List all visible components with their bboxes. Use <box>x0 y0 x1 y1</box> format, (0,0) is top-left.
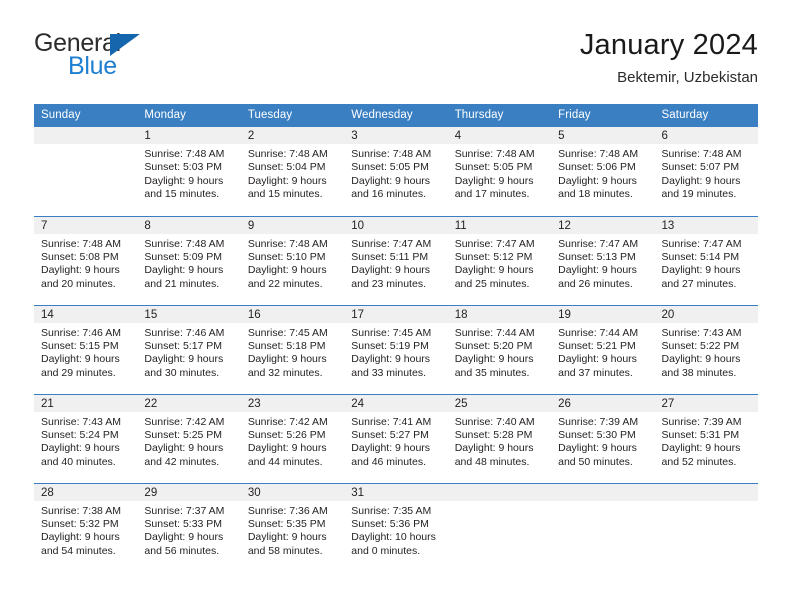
day-details: Sunrise: 7:37 AMSunset: 5:33 PMDaylight:… <box>137 501 240 559</box>
sunrise-text: Sunrise: 7:45 AM <box>351 327 441 340</box>
daylight-text-line1: Daylight: 9 hours <box>455 442 545 455</box>
sunset-text: Sunset: 5:35 PM <box>248 518 338 531</box>
day-number: 14 <box>34 306 137 323</box>
daylight-text-line2: and 18 minutes. <box>558 188 648 201</box>
daylight-text-line2: and 15 minutes. <box>144 188 234 201</box>
daylight-text-line2: and 15 minutes. <box>248 188 338 201</box>
day-details: Sunrise: 7:43 AMSunset: 5:22 PMDaylight:… <box>655 323 758 381</box>
day-details: Sunrise: 7:42 AMSunset: 5:26 PMDaylight:… <box>241 412 344 470</box>
sunrise-text: Sunrise: 7:48 AM <box>41 238 131 251</box>
daylight-text-line1: Daylight: 10 hours <box>351 531 441 544</box>
daylight-text-line1: Daylight: 9 hours <box>248 175 338 188</box>
sunrise-text: Sunrise: 7:46 AM <box>144 327 234 340</box>
daylight-text-line1: Daylight: 9 hours <box>558 353 648 366</box>
calendar-cell-day-18[interactable]: 18Sunrise: 7:44 AMSunset: 5:20 PMDayligh… <box>448 305 551 394</box>
daylight-text-line2: and 23 minutes. <box>351 278 441 291</box>
daylight-text-line2: and 52 minutes. <box>662 456 752 469</box>
sunrise-text: Sunrise: 7:44 AM <box>455 327 545 340</box>
daylight-text-line1: Daylight: 9 hours <box>662 442 752 455</box>
sunset-text: Sunset: 5:07 PM <box>662 161 752 174</box>
page-header: General Blue January 2024 Bektemir, Uzbe… <box>0 0 792 104</box>
calendar-cell-day-28[interactable]: 28Sunrise: 7:38 AMSunset: 5:32 PMDayligh… <box>34 483 137 572</box>
sunset-text: Sunset: 5:21 PM <box>558 340 648 353</box>
sunrise-text: Sunrise: 7:35 AM <box>351 505 441 518</box>
calendar-cell-day-13[interactable]: 13Sunrise: 7:47 AMSunset: 5:14 PMDayligh… <box>655 216 758 305</box>
sunset-text: Sunset: 5:22 PM <box>662 340 752 353</box>
day-number: 6 <box>655 127 758 144</box>
calendar-cell-day-6[interactable]: 6Sunrise: 7:48 AMSunset: 5:07 PMDaylight… <box>655 127 758 216</box>
calendar-cell-day-29[interactable]: 29Sunrise: 7:37 AMSunset: 5:33 PMDayligh… <box>137 483 240 572</box>
daylight-text-line1: Daylight: 9 hours <box>558 264 648 277</box>
daylight-text-line2: and 32 minutes. <box>248 367 338 380</box>
page-subtitle: Bektemir, Uzbekistan <box>580 68 758 88</box>
day-number: 10 <box>344 217 447 234</box>
sunset-text: Sunset: 5:05 PM <box>351 161 441 174</box>
day-details: Sunrise: 7:44 AMSunset: 5:21 PMDaylight:… <box>551 323 654 381</box>
calendar-cell-day-15[interactable]: 15Sunrise: 7:46 AMSunset: 5:17 PMDayligh… <box>137 305 240 394</box>
day-details: Sunrise: 7:35 AMSunset: 5:36 PMDaylight:… <box>344 501 447 559</box>
daylight-text-line1: Daylight: 9 hours <box>662 175 752 188</box>
sunset-text: Sunset: 5:09 PM <box>144 251 234 264</box>
sunset-text: Sunset: 5:32 PM <box>41 518 131 531</box>
day-details: Sunrise: 7:46 AMSunset: 5:15 PMDaylight:… <box>34 323 137 381</box>
daylight-text-line2: and 58 minutes. <box>248 545 338 558</box>
daylight-text-line2: and 25 minutes. <box>455 278 545 291</box>
daylight-text-line1: Daylight: 9 hours <box>41 353 131 366</box>
calendar-cell-day-9[interactable]: 9Sunrise: 7:48 AMSunset: 5:10 PMDaylight… <box>241 216 344 305</box>
sunrise-text: Sunrise: 7:44 AM <box>558 327 648 340</box>
weekday-header-thursday: Thursday <box>448 104 551 127</box>
day-details: Sunrise: 7:48 AMSunset: 5:10 PMDaylight:… <box>241 234 344 292</box>
sunrise-text: Sunrise: 7:38 AM <box>41 505 131 518</box>
sunset-text: Sunset: 5:28 PM <box>455 429 545 442</box>
sunset-text: Sunset: 5:15 PM <box>41 340 131 353</box>
sunset-text: Sunset: 5:04 PM <box>248 161 338 174</box>
daylight-text-line1: Daylight: 9 hours <box>248 353 338 366</box>
day-number: 25 <box>448 395 551 412</box>
calendar-cell-day-7[interactable]: 7Sunrise: 7:48 AMSunset: 5:08 PMDaylight… <box>34 216 137 305</box>
daylight-text-line1: Daylight: 9 hours <box>455 353 545 366</box>
day-number: 8 <box>137 217 240 234</box>
calendar-cell-day-26[interactable]: 26Sunrise: 7:39 AMSunset: 5:30 PMDayligh… <box>551 394 654 483</box>
calendar-cell-empty <box>551 483 654 572</box>
sunset-text: Sunset: 5:12 PM <box>455 251 545 264</box>
daylight-text-line2: and 44 minutes. <box>248 456 338 469</box>
daylight-text-line2: and 50 minutes. <box>558 456 648 469</box>
day-number: 16 <box>241 306 344 323</box>
sunset-text: Sunset: 5:13 PM <box>558 251 648 264</box>
day-number: 28 <box>34 484 137 501</box>
day-details: Sunrise: 7:39 AMSunset: 5:31 PMDaylight:… <box>655 412 758 470</box>
daylight-text-line2: and 42 minutes. <box>144 456 234 469</box>
daylight-text-line1: Daylight: 9 hours <box>144 175 234 188</box>
daylight-text-line2: and 19 minutes. <box>662 188 752 201</box>
day-details: Sunrise: 7:45 AMSunset: 5:19 PMDaylight:… <box>344 323 447 381</box>
weekday-header-saturday: Saturday <box>655 104 758 127</box>
sunset-text: Sunset: 5:27 PM <box>351 429 441 442</box>
day-number <box>34 127 137 144</box>
daylight-text-line2: and 40 minutes. <box>41 456 131 469</box>
day-details: Sunrise: 7:48 AMSunset: 5:04 PMDaylight:… <box>241 144 344 202</box>
calendar-week-row: 1Sunrise: 7:48 AMSunset: 5:03 PMDaylight… <box>34 127 758 216</box>
calendar-cell-day-30[interactable]: 30Sunrise: 7:36 AMSunset: 5:35 PMDayligh… <box>241 483 344 572</box>
calendar-cell-day-23[interactable]: 23Sunrise: 7:42 AMSunset: 5:26 PMDayligh… <box>241 394 344 483</box>
day-number: 17 <box>344 306 447 323</box>
daylight-text-line1: Daylight: 9 hours <box>144 353 234 366</box>
daylight-text-line2: and 21 minutes. <box>144 278 234 291</box>
day-number: 1 <box>137 127 240 144</box>
title-block: January 2024 Bektemir, Uzbekistan <box>580 26 758 88</box>
calendar-week-row: 28Sunrise: 7:38 AMSunset: 5:32 PMDayligh… <box>34 483 758 572</box>
daylight-text-line1: Daylight: 9 hours <box>351 175 441 188</box>
day-details: Sunrise: 7:47 AMSunset: 5:14 PMDaylight:… <box>655 234 758 292</box>
sunset-text: Sunset: 5:10 PM <box>248 251 338 264</box>
day-number: 31 <box>344 484 447 501</box>
sunset-text: Sunset: 5:11 PM <box>351 251 441 264</box>
daylight-text-line2: and 27 minutes. <box>662 278 752 291</box>
sunset-text: Sunset: 5:25 PM <box>144 429 234 442</box>
daylight-text-line1: Daylight: 9 hours <box>351 353 441 366</box>
daylight-text-line2: and 20 minutes. <box>41 278 131 291</box>
day-details: Sunrise: 7:48 AMSunset: 5:07 PMDaylight:… <box>655 144 758 202</box>
calendar-cell-day-5[interactable]: 5Sunrise: 7:48 AMSunset: 5:06 PMDaylight… <box>551 127 654 216</box>
calendar-cell-empty <box>655 483 758 572</box>
daylight-text-line1: Daylight: 9 hours <box>558 175 648 188</box>
sunrise-text: Sunrise: 7:47 AM <box>455 238 545 251</box>
sunrise-text: Sunrise: 7:47 AM <box>662 238 752 251</box>
calendar-cell-day-27[interactable]: 27Sunrise: 7:39 AMSunset: 5:31 PMDayligh… <box>655 394 758 483</box>
day-details: Sunrise: 7:48 AMSunset: 5:03 PMDaylight:… <box>137 144 240 202</box>
day-number: 21 <box>34 395 137 412</box>
calendar-cell-day-11[interactable]: 11Sunrise: 7:47 AMSunset: 5:12 PMDayligh… <box>448 216 551 305</box>
day-details: Sunrise: 7:48 AMSunset: 5:05 PMDaylight:… <box>344 144 447 202</box>
daylight-text-line1: Daylight: 9 hours <box>248 531 338 544</box>
calendar-cell-day-10[interactable]: 10Sunrise: 7:47 AMSunset: 5:11 PMDayligh… <box>344 216 447 305</box>
calendar-cell-day-19[interactable]: 19Sunrise: 7:44 AMSunset: 5:21 PMDayligh… <box>551 305 654 394</box>
sunset-text: Sunset: 5:18 PM <box>248 340 338 353</box>
daylight-text-line1: Daylight: 9 hours <box>248 264 338 277</box>
calendar-cell-day-14[interactable]: 14Sunrise: 7:46 AMSunset: 5:15 PMDayligh… <box>34 305 137 394</box>
daylight-text-line2: and 33 minutes. <box>351 367 441 380</box>
day-number: 4 <box>448 127 551 144</box>
sunrise-text: Sunrise: 7:48 AM <box>662 148 752 161</box>
calendar-cell-day-21[interactable]: 21Sunrise: 7:43 AMSunset: 5:24 PMDayligh… <box>34 394 137 483</box>
day-details: Sunrise: 7:48 AMSunset: 5:09 PMDaylight:… <box>137 234 240 292</box>
day-number <box>448 484 551 501</box>
sunrise-text: Sunrise: 7:47 AM <box>558 238 648 251</box>
day-details: Sunrise: 7:47 AMSunset: 5:12 PMDaylight:… <box>448 234 551 292</box>
calendar-header-row: SundayMondayTuesdayWednesdayThursdayFrid… <box>34 104 758 127</box>
sunrise-text: Sunrise: 7:43 AM <box>662 327 752 340</box>
weekday-header-friday: Friday <box>551 104 654 127</box>
calendar-body: 1Sunrise: 7:48 AMSunset: 5:03 PMDaylight… <box>34 127 758 572</box>
sunrise-text: Sunrise: 7:37 AM <box>144 505 234 518</box>
day-number: 18 <box>448 306 551 323</box>
day-number: 9 <box>241 217 344 234</box>
sunset-text: Sunset: 5:03 PM <box>144 161 234 174</box>
calendar-cell-empty <box>34 127 137 216</box>
calendar-page: General Blue January 2024 Bektemir, Uzbe… <box>0 0 792 612</box>
day-details: Sunrise: 7:44 AMSunset: 5:20 PMDaylight:… <box>448 323 551 381</box>
day-number: 11 <box>448 217 551 234</box>
sunrise-text: Sunrise: 7:48 AM <box>351 148 441 161</box>
day-details: Sunrise: 7:39 AMSunset: 5:30 PMDaylight:… <box>551 412 654 470</box>
daylight-text-line1: Daylight: 9 hours <box>41 531 131 544</box>
calendar-cell-day-17[interactable]: 17Sunrise: 7:45 AMSunset: 5:19 PMDayligh… <box>344 305 447 394</box>
calendar-cell-day-22[interactable]: 22Sunrise: 7:42 AMSunset: 5:25 PMDayligh… <box>137 394 240 483</box>
daylight-text-line1: Daylight: 9 hours <box>144 531 234 544</box>
day-number: 3 <box>344 127 447 144</box>
calendar-cell-day-4[interactable]: 4Sunrise: 7:48 AMSunset: 5:05 PMDaylight… <box>448 127 551 216</box>
sunrise-text: Sunrise: 7:48 AM <box>455 148 545 161</box>
day-number: 15 <box>137 306 240 323</box>
sunrise-text: Sunrise: 7:48 AM <box>248 238 338 251</box>
sunrise-sunset-calendar: SundayMondayTuesdayWednesdayThursdayFrid… <box>34 104 758 572</box>
day-number: 5 <box>551 127 654 144</box>
day-number: 2 <box>241 127 344 144</box>
sunrise-text: Sunrise: 7:48 AM <box>248 148 338 161</box>
logo-text-blue: Blue <box>68 54 174 79</box>
day-details: Sunrise: 7:41 AMSunset: 5:27 PMDaylight:… <box>344 412 447 470</box>
daylight-text-line1: Daylight: 9 hours <box>662 353 752 366</box>
sunset-text: Sunset: 5:30 PM <box>558 429 648 442</box>
sunset-text: Sunset: 5:20 PM <box>455 340 545 353</box>
daylight-text-line1: Daylight: 9 hours <box>144 442 234 455</box>
daylight-text-line2: and 37 minutes. <box>558 367 648 380</box>
triangle-icon <box>110 34 140 56</box>
day-number: 23 <box>241 395 344 412</box>
sunrise-text: Sunrise: 7:48 AM <box>144 238 234 251</box>
calendar-week-row: 7Sunrise: 7:48 AMSunset: 5:08 PMDaylight… <box>34 216 758 305</box>
sunrise-text: Sunrise: 7:41 AM <box>351 416 441 429</box>
daylight-text-line2: and 38 minutes. <box>662 367 752 380</box>
calendar-cell-day-20[interactable]: 20Sunrise: 7:43 AMSunset: 5:22 PMDayligh… <box>655 305 758 394</box>
day-details: Sunrise: 7:43 AMSunset: 5:24 PMDaylight:… <box>34 412 137 470</box>
sunrise-text: Sunrise: 7:40 AM <box>455 416 545 429</box>
calendar-cell-day-1[interactable]: 1Sunrise: 7:48 AMSunset: 5:03 PMDaylight… <box>137 127 240 216</box>
sunset-text: Sunset: 5:17 PM <box>144 340 234 353</box>
daylight-text-line1: Daylight: 9 hours <box>455 175 545 188</box>
daylight-text-line2: and 48 minutes. <box>455 456 545 469</box>
daylight-text-line2: and 0 minutes. <box>351 545 441 558</box>
weekday-header-sunday: Sunday <box>34 104 137 127</box>
calendar-week-row: 21Sunrise: 7:43 AMSunset: 5:24 PMDayligh… <box>34 394 758 483</box>
calendar-cell-day-24[interactable]: 24Sunrise: 7:41 AMSunset: 5:27 PMDayligh… <box>344 394 447 483</box>
day-number: 7 <box>34 217 137 234</box>
sunrise-text: Sunrise: 7:39 AM <box>558 416 648 429</box>
day-number: 27 <box>655 395 758 412</box>
daylight-text-line2: and 29 minutes. <box>41 367 131 380</box>
weekday-header-monday: Monday <box>137 104 240 127</box>
sunrise-text: Sunrise: 7:36 AM <box>248 505 338 518</box>
sunrise-text: Sunrise: 7:42 AM <box>144 416 234 429</box>
daylight-text-line1: Daylight: 9 hours <box>351 264 441 277</box>
sunrise-text: Sunrise: 7:45 AM <box>248 327 338 340</box>
sunset-text: Sunset: 5:19 PM <box>351 340 441 353</box>
calendar-cell-day-12[interactable]: 12Sunrise: 7:47 AMSunset: 5:13 PMDayligh… <box>551 216 654 305</box>
day-details: Sunrise: 7:47 AMSunset: 5:11 PMDaylight:… <box>344 234 447 292</box>
calendar-week-row: 14Sunrise: 7:46 AMSunset: 5:15 PMDayligh… <box>34 305 758 394</box>
daylight-text-line1: Daylight: 9 hours <box>455 264 545 277</box>
daylight-text-line2: and 46 minutes. <box>351 456 441 469</box>
daylight-text-line1: Daylight: 9 hours <box>144 264 234 277</box>
day-number: 26 <box>551 395 654 412</box>
day-number: 22 <box>137 395 240 412</box>
calendar-cell-day-2[interactable]: 2Sunrise: 7:48 AMSunset: 5:04 PMDaylight… <box>241 127 344 216</box>
sunset-text: Sunset: 5:36 PM <box>351 518 441 531</box>
day-details: Sunrise: 7:36 AMSunset: 5:35 PMDaylight:… <box>241 501 344 559</box>
weekday-header-wednesday: Wednesday <box>344 104 447 127</box>
day-number: 20 <box>655 306 758 323</box>
sunrise-text: Sunrise: 7:47 AM <box>351 238 441 251</box>
sunset-text: Sunset: 5:08 PM <box>41 251 131 264</box>
day-number: 13 <box>655 217 758 234</box>
day-details: Sunrise: 7:48 AMSunset: 5:08 PMDaylight:… <box>34 234 137 292</box>
sunset-text: Sunset: 5:24 PM <box>41 429 131 442</box>
sunset-text: Sunset: 5:05 PM <box>455 161 545 174</box>
daylight-text-line1: Daylight: 9 hours <box>248 442 338 455</box>
daylight-text-line1: Daylight: 9 hours <box>41 442 131 455</box>
generalblue-logo[interactable]: General Blue <box>34 26 174 88</box>
day-details: Sunrise: 7:38 AMSunset: 5:32 PMDaylight:… <box>34 501 137 559</box>
sunset-text: Sunset: 5:14 PM <box>662 251 752 264</box>
daylight-text-line1: Daylight: 9 hours <box>662 264 752 277</box>
day-number <box>551 484 654 501</box>
day-details: Sunrise: 7:46 AMSunset: 5:17 PMDaylight:… <box>137 323 240 381</box>
daylight-text-line2: and 16 minutes. <box>351 188 441 201</box>
daylight-text-line1: Daylight: 9 hours <box>558 442 648 455</box>
sunset-text: Sunset: 5:06 PM <box>558 161 648 174</box>
sunrise-text: Sunrise: 7:43 AM <box>41 416 131 429</box>
day-number: 19 <box>551 306 654 323</box>
daylight-text-line2: and 54 minutes. <box>41 545 131 558</box>
calendar-cell-day-31[interactable]: 31Sunrise: 7:35 AMSunset: 5:36 PMDayligh… <box>344 483 447 572</box>
day-details: Sunrise: 7:42 AMSunset: 5:25 PMDaylight:… <box>137 412 240 470</box>
daylight-text-line2: and 17 minutes. <box>455 188 545 201</box>
sunrise-text: Sunrise: 7:46 AM <box>41 327 131 340</box>
day-details: Sunrise: 7:48 AMSunset: 5:05 PMDaylight:… <box>448 144 551 202</box>
day-number: 24 <box>344 395 447 412</box>
sunrise-text: Sunrise: 7:48 AM <box>144 148 234 161</box>
calendar-cell-day-8[interactable]: 8Sunrise: 7:48 AMSunset: 5:09 PMDaylight… <box>137 216 240 305</box>
sunrise-text: Sunrise: 7:42 AM <box>248 416 338 429</box>
page-title: January 2024 <box>580 28 758 62</box>
daylight-text-line1: Daylight: 9 hours <box>351 442 441 455</box>
calendar-cell-day-25[interactable]: 25Sunrise: 7:40 AMSunset: 5:28 PMDayligh… <box>448 394 551 483</box>
daylight-text-line2: and 26 minutes. <box>558 278 648 291</box>
sunrise-text: Sunrise: 7:39 AM <box>662 416 752 429</box>
day-number: 29 <box>137 484 240 501</box>
day-details: Sunrise: 7:45 AMSunset: 5:18 PMDaylight:… <box>241 323 344 381</box>
day-details: Sunrise: 7:47 AMSunset: 5:13 PMDaylight:… <box>551 234 654 292</box>
day-number <box>655 484 758 501</box>
calendar-cell-day-16[interactable]: 16Sunrise: 7:45 AMSunset: 5:18 PMDayligh… <box>241 305 344 394</box>
sunrise-text: Sunrise: 7:48 AM <box>558 148 648 161</box>
daylight-text-line2: and 22 minutes. <box>248 278 338 291</box>
daylight-text-line2: and 56 minutes. <box>144 545 234 558</box>
calendar-cell-day-3[interactable]: 3Sunrise: 7:48 AMSunset: 5:05 PMDaylight… <box>344 127 447 216</box>
calendar-cell-empty <box>448 483 551 572</box>
weekday-header-tuesday: Tuesday <box>241 104 344 127</box>
day-details: Sunrise: 7:40 AMSunset: 5:28 PMDaylight:… <box>448 412 551 470</box>
sunset-text: Sunset: 5:33 PM <box>144 518 234 531</box>
daylight-text-line2: and 30 minutes. <box>144 367 234 380</box>
sunset-text: Sunset: 5:31 PM <box>662 429 752 442</box>
day-number: 30 <box>241 484 344 501</box>
daylight-text-line2: and 35 minutes. <box>455 367 545 380</box>
sunset-text: Sunset: 5:26 PM <box>248 429 338 442</box>
day-details: Sunrise: 7:48 AMSunset: 5:06 PMDaylight:… <box>551 144 654 202</box>
day-number: 12 <box>551 217 654 234</box>
daylight-text-line1: Daylight: 9 hours <box>41 264 131 277</box>
